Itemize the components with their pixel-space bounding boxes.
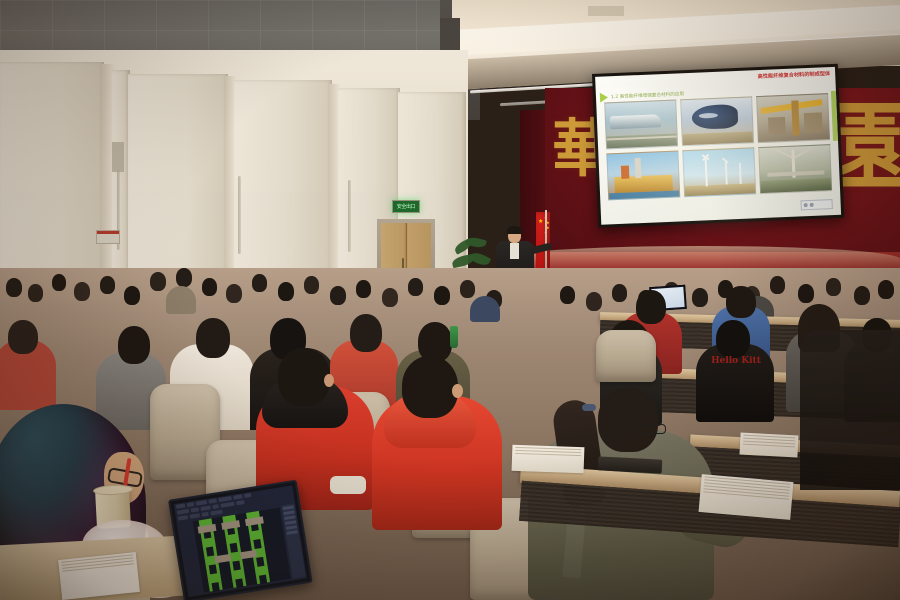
projection-screen: 高性能纤维复合材料的制成型体 1.2 高性能纤维增强复合材料的应用 <box>595 67 841 225</box>
panel-row[interactable] <box>285 520 296 525</box>
red-hoodie-a-head <box>278 348 330 406</box>
red-hoodie-a-cuff <box>330 476 366 494</box>
panel-row[interactable] <box>283 505 294 510</box>
red-hoodie-b-head <box>402 356 458 418</box>
panel-row[interactable] <box>284 515 295 520</box>
next-slide-icon[interactable] <box>810 203 814 207</box>
panel-slit <box>348 180 351 252</box>
open-notebook <box>699 474 794 520</box>
wall-notice-board <box>96 230 120 244</box>
prev-slide-icon[interactable] <box>804 203 808 207</box>
eda-app-window[interactable] <box>174 485 307 597</box>
slide-image <box>758 144 832 194</box>
panel-row[interactable] <box>283 510 294 515</box>
exit-sign-label: 安全出口 <box>397 203 415 210</box>
green-water-bottle <box>450 326 458 348</box>
red-hoodie-b-ear <box>452 384 463 398</box>
wall-notice-bar <box>97 231 119 234</box>
toolbar-button[interactable] <box>190 513 201 519</box>
slide-image <box>680 96 754 146</box>
panel-slit <box>238 176 241 254</box>
panel-row[interactable] <box>286 525 297 530</box>
slide-image <box>682 147 756 197</box>
speaker-hair <box>507 226 522 234</box>
foreground-paper <box>58 552 140 600</box>
slide-title: 高性能纤维复合材料的制成型体 <box>757 70 830 80</box>
eda-layout-canvas[interactable] <box>193 508 291 593</box>
slide-image-grid <box>604 93 832 200</box>
toolbar-button[interactable] <box>210 510 222 516</box>
hair-tie <box>582 404 596 411</box>
soffit-vent <box>588 6 624 16</box>
exit-sign: 安全出口 <box>392 200 420 213</box>
panel-row[interactable] <box>286 530 297 535</box>
eda-layout-laptop[interactable] <box>168 480 313 600</box>
open-notebook <box>512 445 585 473</box>
red-hoodie-a-ear <box>324 374 334 387</box>
lecture-hall-photo: 安全出口 華 園 高性能纤维复合材料的制成型体 1.2 高性能纤维增强复合材料的… <box>0 0 900 600</box>
panel-access-plate <box>112 142 124 172</box>
audience-member <box>470 296 500 322</box>
open-notebook <box>739 432 798 457</box>
speaker-shirt <box>510 243 519 259</box>
toolbar-button[interactable] <box>201 512 209 517</box>
slide-image <box>606 150 680 200</box>
auditorium-chair[interactable] <box>596 330 656 382</box>
chevron-right-icon <box>600 92 608 102</box>
grey-coat-student-head <box>598 388 658 452</box>
slide-image <box>604 99 678 149</box>
toolbar-button[interactable] <box>178 515 189 521</box>
slide-accent-bar <box>831 91 838 141</box>
jacket-graphic-text: Hello Kitt <box>704 356 768 366</box>
slide-image <box>756 93 830 143</box>
projection-screen-frame: 高性能纤维复合材料的制成型体 1.2 高性能纤维增强复合材料的应用 <box>592 64 844 228</box>
eyeglasses-icon <box>646 424 666 434</box>
slideshow-control-bar[interactable] <box>800 199 832 210</box>
foreground-seat-silhouette <box>800 330 900 490</box>
